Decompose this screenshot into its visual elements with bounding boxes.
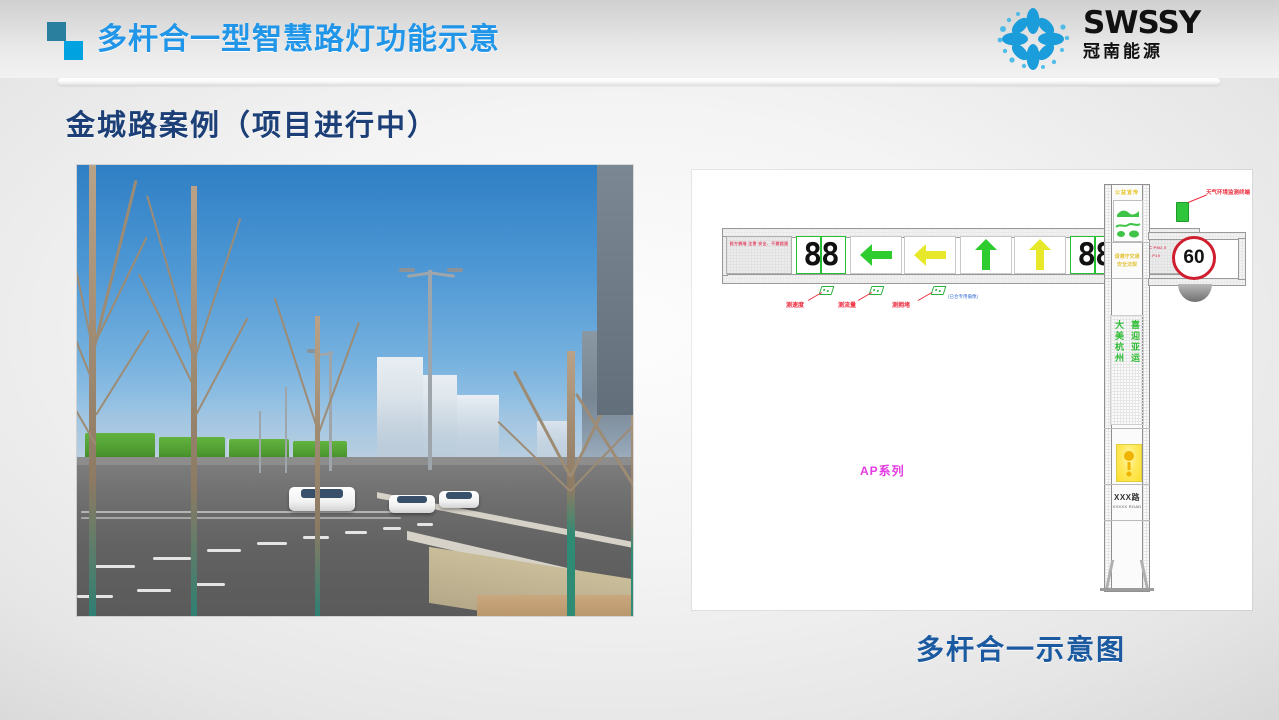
car [439,491,479,508]
annotation-measure-congestion: 测拥堵 [892,300,910,309]
car [389,495,435,513]
annotation-measure-flow: 测流量 [838,300,856,309]
pole-top-banner: 公益宣传 [1113,188,1141,198]
logo-wordmark: SWSSY [1083,7,1259,39]
gantry-message-text: 前方拥堵 注意 安全、不要超速 [727,237,791,247]
logo-chinese-name: 冠南能源 [1083,41,1259,63]
annotation-sensor-note: (已合专用摄像) [948,294,978,300]
vertical-text-right: 喜迎亚运 [1129,320,1140,364]
pole-safety-text-display: 请遵守交通 安全法规 [1113,248,1141,279]
page-title: 多杆合一型智慧路灯功能示意 [97,14,500,58]
weather-sensor-icon [1176,202,1189,222]
jincheng-road-photo [77,165,633,616]
annotation-measure-speed: 测速度 [786,300,804,309]
pole-landscape-display [1113,200,1143,242]
lane-arrow-up-green [960,236,1012,274]
dome-camera-icon [1178,284,1212,302]
gantry-message-board: 前方拥堵 注意 安全、不要超速 [726,236,792,274]
lane-arrow-up-yellow [1014,236,1066,274]
warning-light-icon [1116,444,1142,482]
diagram-caption: 多杆合一示意图 [916,628,1126,668]
slide-canvas: 多杆合一型智慧路灯功能示意 [0,0,1279,720]
section-subtitle: 金城路案例（项目进行中） [66,102,438,144]
swssy-petal-logo-icon [991,7,1075,71]
slide-header: 多杆合一型智慧路灯功能示意 [0,0,1279,78]
square-bullet-icon [47,22,87,60]
vertical-text-left: 大美杭州 [1113,320,1124,364]
street-name: XXX路 [1108,492,1146,503]
multi-pole-integration-diagram: 前方拥堵 注意 安全、不要超速 88 88 [692,170,1252,610]
radar-sensor-icon [869,286,885,295]
radar-sensor-icon [819,286,835,295]
street-name-plate: XXX路 XXXXX ROAD [1108,492,1146,514]
annotation-weather-terminal: 天气环境监测终端 [1206,188,1250,196]
street-name-sub: XXXXX ROAD [1108,504,1146,509]
annotation-ap-series: AP系列 [860,462,905,479]
speed-limit-sign: 60 [1172,236,1216,280]
radar-sensor-icon [931,286,947,295]
header-divider [58,78,1220,85]
lane-arrow-left-yellow [904,236,956,274]
company-logo: SWSSY 冠南能源 [991,5,1259,73]
lane-arrow-left-green [850,236,902,274]
